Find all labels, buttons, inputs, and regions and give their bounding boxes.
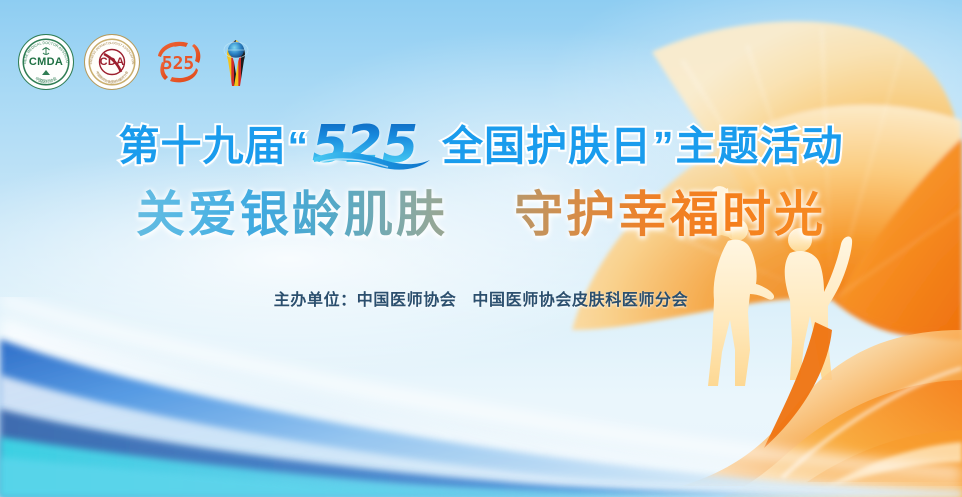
- 525-hands-logo: 525: [150, 34, 206, 90]
- cda-abbr-label: CDA: [100, 56, 125, 68]
- title-suffix: 主题活动: [676, 118, 844, 174]
- svg-text:中国医师协会皮肤科医师分会: 中国医师协会皮肤科医师分会: [95, 69, 129, 84]
- blue-wave-ribbons: [0, 297, 962, 497]
- quote-open: “: [287, 118, 311, 174]
- quote-close: ”: [652, 118, 676, 174]
- slogan-right: 守护幸福时光: [514, 185, 826, 243]
- organizer-name-1: 中国医师协会: [357, 292, 457, 309]
- cda-seal-logo: CHINESE DERMATOLOGIST ASSOCIATION 中国医师协会…: [84, 34, 140, 90]
- title-prefix: 第十九届: [119, 118, 287, 174]
- organizer-line: 主办单位：中国医师协会中国医师协会皮肤科医师分会: [0, 286, 962, 310]
- cmda-ring-bottom-text: 中国医师协会: [34, 75, 57, 84]
- skin-care-ribbon-logo: [216, 34, 256, 90]
- slogan-left: 关爱银龄肌肤: [136, 185, 448, 243]
- cmda-seal-logo: CHINESE MEDICAL DOCTOR ASSOCIATION 中国医师协…: [18, 34, 74, 90]
- cda-ring-bottom-text: 中国医师协会皮肤科医师分会: [95, 69, 129, 84]
- organizer-label: 主办单位：: [274, 292, 357, 309]
- svg-text:中国医师协会: 中国医师协会: [34, 75, 57, 84]
- poster-banner: CHINESE MEDICAL DOCTOR ASSOCIATION 中国医师协…: [0, 0, 962, 497]
- 525-digit-5a: 5: [312, 118, 349, 174]
- title-mid: 全国护肤日: [442, 118, 652, 174]
- organizer-name-2: 中国医师协会皮肤科医师分会: [472, 292, 688, 309]
- cmda-seal: CHINESE MEDICAL DOCTOR ASSOCIATION 中国医师协…: [18, 34, 74, 90]
- headline-block: 第十九届 “: [0, 118, 962, 246]
- organization-logo-row: CHINESE MEDICAL DOCTOR ASSOCIATION 中国医师协…: [18, 34, 256, 90]
- cda-seal: CHINESE DERMATOLOGIST ASSOCIATION 中国医师协会…: [84, 34, 140, 90]
- main-title-line-2: 关爱银龄肌肤 守护幸福时光: [0, 182, 962, 246]
- 525-numerals: 525: [162, 53, 195, 74]
- main-title-line-1: 第十九届 “: [0, 118, 962, 174]
- cmda-abbr-label: CMDA: [29, 56, 63, 68]
- 525-wordmark: 5 2 5: [310, 118, 442, 174]
